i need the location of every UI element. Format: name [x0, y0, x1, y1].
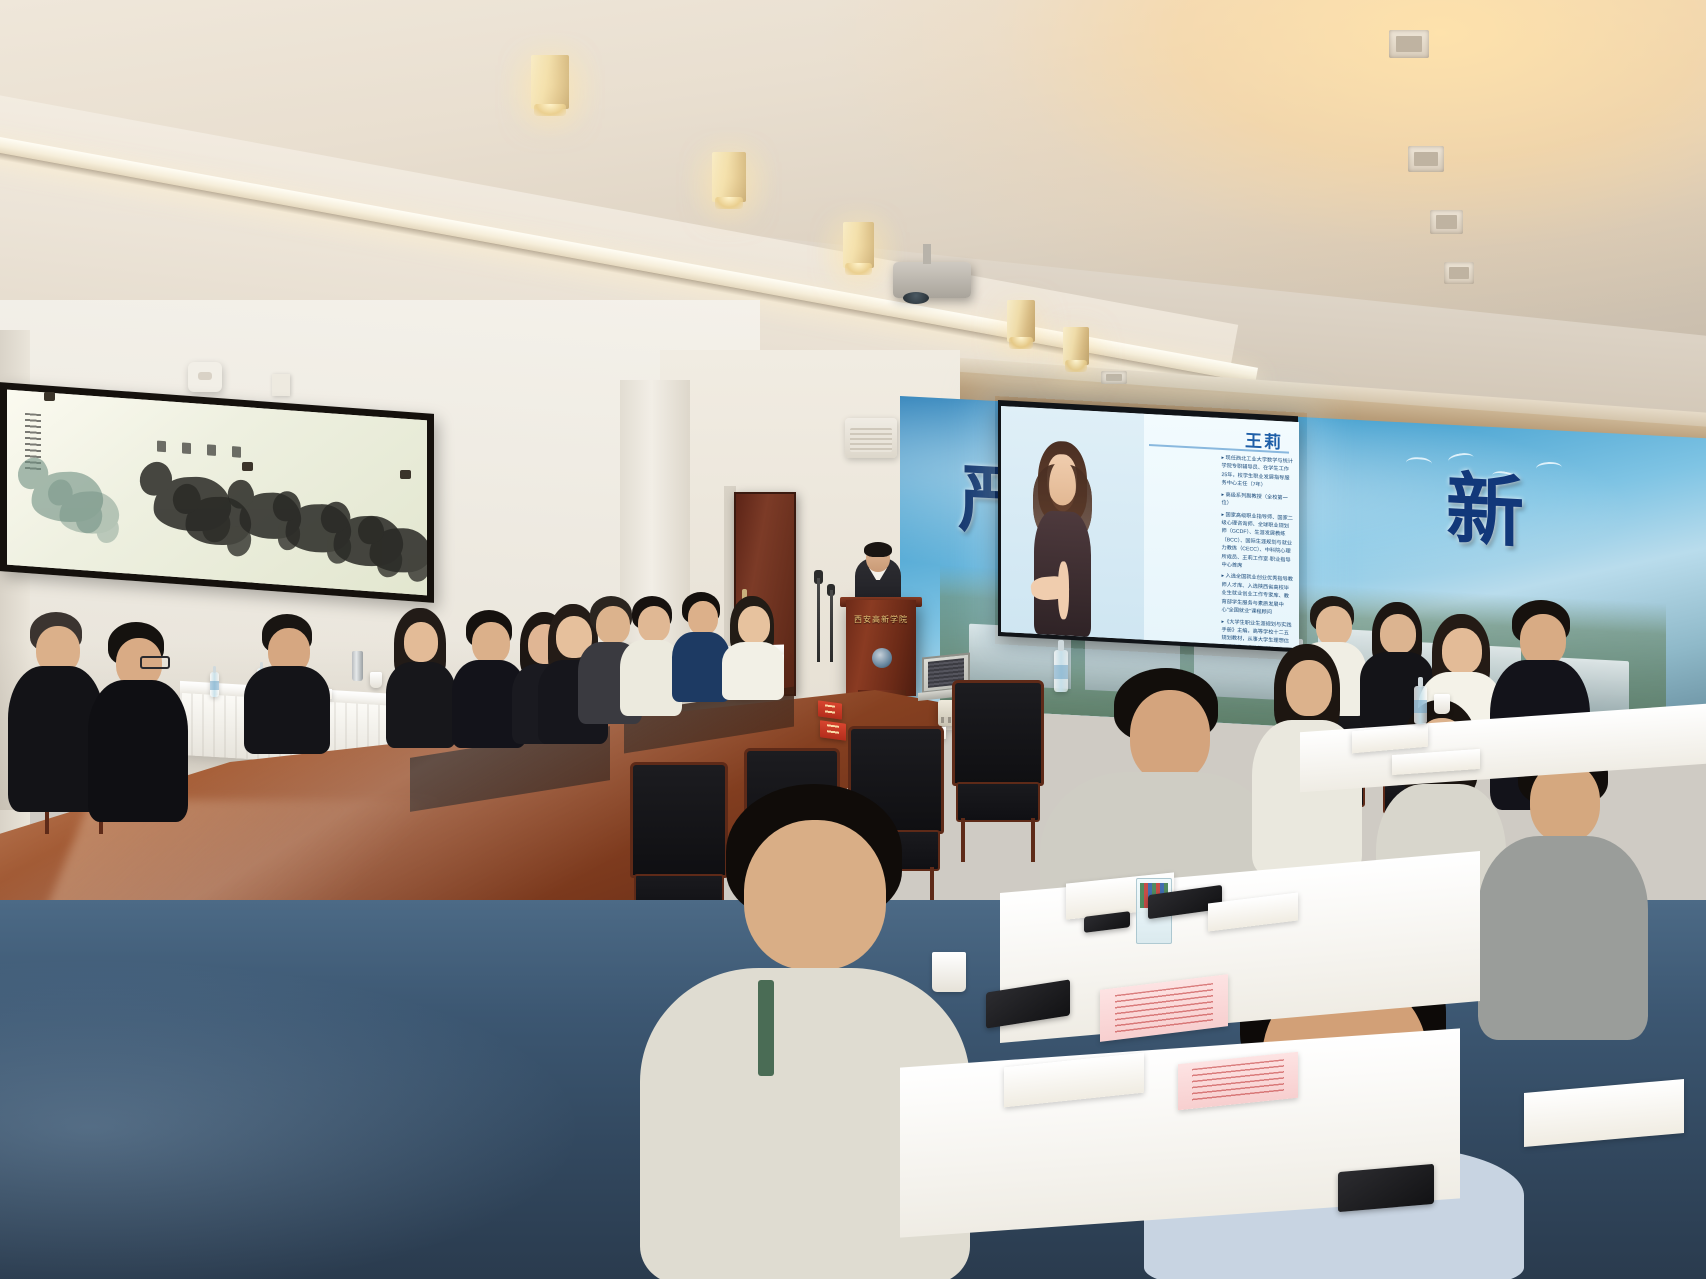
conference-room-photo: 严 新 王莉 ▸ 现任西北工业大学数学与统计学院专职辅导员、在学生工作25年，校…	[0, 0, 1706, 1279]
water-bottle[interactable]	[1414, 686, 1427, 724]
slide-presenter-photo	[1021, 439, 1104, 638]
water-bottle[interactable]	[210, 672, 219, 697]
painting-title-characters	[157, 441, 241, 458]
paper-cup[interactable]	[1434, 694, 1450, 714]
thermos-flask[interactable]	[352, 651, 363, 681]
eyeglasses-icon	[140, 656, 170, 669]
smoke-detector-icon	[188, 362, 222, 392]
red-name-card[interactable]	[818, 700, 842, 719]
ceiling-downlight	[1063, 327, 1089, 365]
wall-painting-eight-horses	[0, 382, 434, 603]
slide-bullet: ▸ 国家高级职业指导师、国家二级心理咨询师、全球职业规划师（GCDF）、生涯发展…	[1222, 510, 1293, 573]
downlight-glow	[496, 30, 606, 140]
microphone-stand	[817, 578, 820, 662]
water-bottle[interactable]	[1054, 650, 1068, 692]
banner-text-right: 新	[1446, 447, 1526, 563]
painted-horse	[367, 527, 427, 573]
frame-hook-icon	[242, 462, 253, 471]
downlight-glow	[680, 128, 780, 228]
recessed-ceiling-light	[1430, 210, 1463, 234]
frame-hook-icon	[400, 470, 411, 479]
air-conditioner-icon	[845, 418, 897, 458]
podium-emblem-icon	[872, 648, 892, 668]
downlight-glow	[812, 200, 906, 294]
slide-bullet: ▸ 现任西北工业大学数学与统计学院专职辅导员、在学生工作25年，校学生职业发展指…	[1222, 454, 1293, 492]
slide-bullet-list: ▸ 现任西北工业大学数学与统计学院专职辅导员、在学生工作25年，校学生职业发展指…	[1222, 454, 1293, 648]
slide-bullet: ▸ 入选全国就业创业优秀指导教师人才库、入选陕西省高校毕业生就业创业工作专家库、…	[1222, 572, 1293, 618]
attendee-person	[88, 622, 188, 822]
slide-bullet: ▸ 高级系列副教授（全校第一位）	[1222, 491, 1293, 512]
smartphone[interactable]	[1338, 1164, 1434, 1212]
speaker-person-hair	[864, 542, 892, 557]
wall-plate-icon	[272, 374, 290, 396]
recessed-ceiling-light	[1101, 371, 1127, 384]
recessed-ceiling-light	[1389, 30, 1429, 58]
ceiling-downlight	[1007, 300, 1035, 342]
microphone-stand	[830, 590, 833, 662]
attendee-person	[244, 614, 330, 754]
attendee-person	[384, 608, 456, 748]
painted-horse	[57, 491, 121, 535]
ceiling-projector-icon	[893, 262, 971, 298]
slide-right-panel: 王莉 ▸ 现任西北工业大学数学与统计学院专职辅导员、在学生工作25年，校学生职业…	[1144, 414, 1299, 648]
podium-nameplate: 西安高新学院	[852, 613, 910, 626]
recessed-ceiling-light	[1408, 146, 1444, 172]
attendee-person	[722, 596, 784, 700]
recessed-ceiling-light	[1444, 262, 1474, 284]
red-name-card[interactable]	[820, 720, 846, 741]
slide-left-panel	[1001, 406, 1144, 640]
paper-cup[interactable]	[932, 952, 966, 992]
lanyard-icon	[758, 980, 774, 1076]
projection-screen: 王莉 ▸ 现任西北工业大学数学与统计学院专职辅导员、在学生工作25年，校学生职业…	[1001, 406, 1299, 648]
frame-hook-icon	[44, 392, 55, 401]
photo-arm	[1058, 561, 1070, 620]
paper-cup[interactable]	[370, 672, 382, 688]
painting-canvas	[7, 390, 427, 596]
